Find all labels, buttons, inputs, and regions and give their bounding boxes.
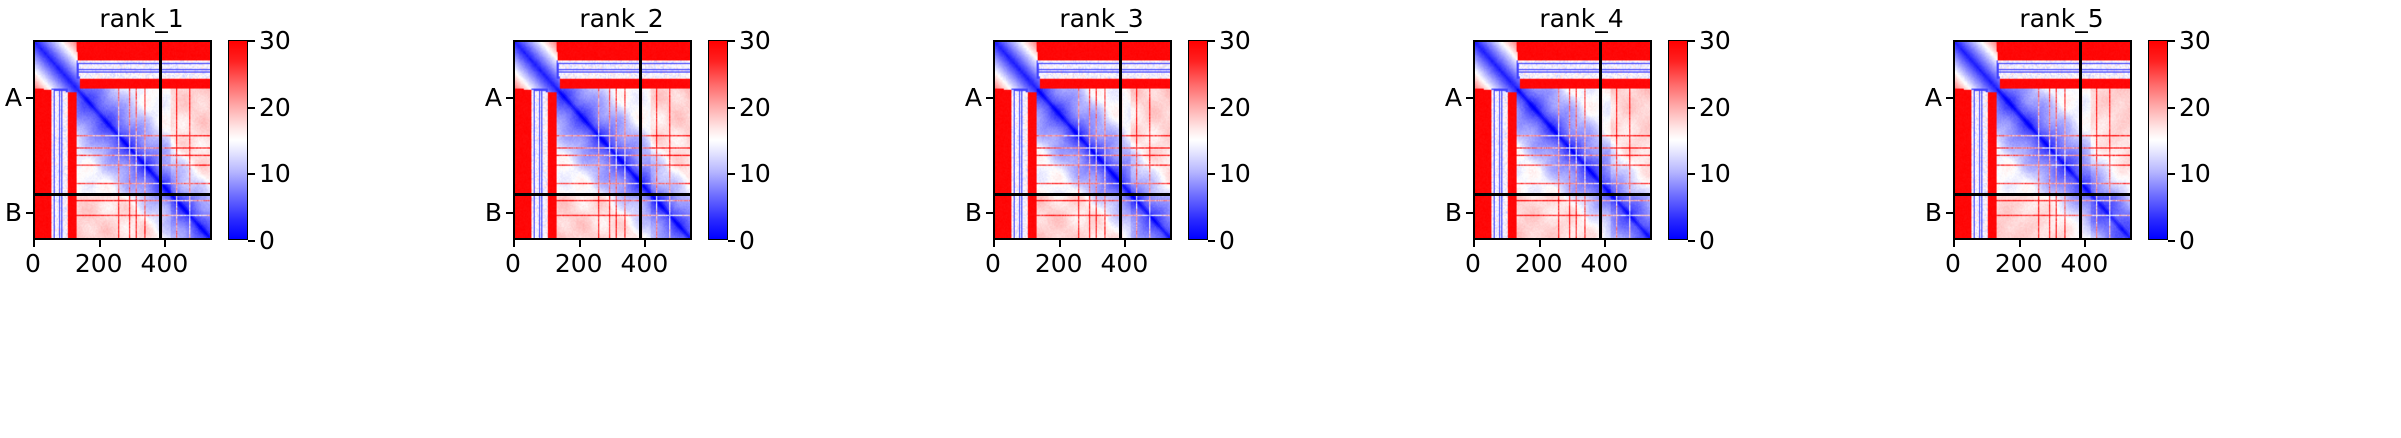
y-tick-label-chain: A (1445, 84, 1462, 112)
colorbar-tick-label: 10 (1699, 160, 1731, 188)
x-tick-label: 0 (985, 249, 1001, 279)
colorbar-tick-label: 30 (259, 27, 291, 55)
x-tick-label: 0 (25, 249, 41, 279)
colorbar-tick (1688, 40, 1695, 42)
y-tick-label-chain: B (5, 199, 22, 227)
panel-rank_1: rank_10200400AB0102030 (0, 0, 480, 438)
panel-title-wrap: rank_2 (513, 4, 730, 34)
x-tick-label: 200 (1995, 249, 2043, 279)
colorbar-tick-label: 30 (1699, 27, 1731, 55)
chain-separator-vertical (159, 42, 162, 238)
colorbar-tick-label: 30 (739, 27, 771, 55)
panel-title: rank_3 (993, 4, 1210, 34)
figure-root: rank_10200400AB0102030rank_20200400AB010… (0, 0, 2401, 438)
x-tick (99, 240, 101, 247)
colorbar-ticks: 0102030 (1688, 40, 1748, 240)
panel-title-wrap: rank_5 (1953, 4, 2170, 34)
heatmap-axes (1473, 40, 1652, 240)
chain-separator-horizontal (1475, 193, 1650, 196)
x-tick-label: 200 (1035, 249, 1083, 279)
heatmap-image (515, 42, 690, 238)
colorbar-tick (1208, 240, 1215, 242)
x-tick (1953, 240, 1955, 247)
y-tick-label-chain: B (485, 199, 502, 227)
panel-title: rank_1 (33, 4, 250, 34)
y-tick (986, 212, 993, 214)
y-tick (506, 212, 513, 214)
panel-rank_4: rank_40200400AB0102030 (1440, 0, 1920, 438)
panel-title-wrap: rank_3 (993, 4, 1210, 34)
colorbar (228, 40, 248, 240)
panel-title-wrap: rank_1 (33, 4, 250, 34)
colorbar-tick-label: 20 (2179, 94, 2211, 122)
x-tick (579, 240, 581, 247)
colorbar-tick (2168, 40, 2175, 42)
colorbar-tick-label: 20 (739, 94, 771, 122)
chain-separator-horizontal (35, 193, 210, 196)
colorbar-tick-label: 10 (739, 160, 771, 188)
panel-rank_2: rank_20200400AB0102030 (480, 0, 960, 438)
y-tick-label-chain: B (1925, 199, 1942, 227)
panel-title-wrap: rank_4 (1473, 4, 1690, 34)
y-tick (1466, 212, 1473, 214)
colorbar-tick (2168, 240, 2175, 242)
x-tick (1059, 240, 1061, 247)
x-tick (164, 240, 166, 247)
x-tick (1604, 240, 1606, 247)
colorbar-tick (2168, 107, 2175, 109)
panel-title: rank_2 (513, 4, 730, 34)
heatmap-canvas (35, 42, 210, 238)
panel-rank_5: rank_50200400AB0102030 (1920, 0, 2400, 438)
heatmap-axes (993, 40, 1172, 240)
colorbar-tick (248, 40, 255, 42)
colorbar-tick-label: 0 (259, 227, 275, 255)
colorbar-ticks: 0102030 (248, 40, 308, 240)
heatmap-image (995, 42, 1170, 238)
y-tick (1946, 97, 1953, 99)
x-axis: 0200400 (1473, 240, 1652, 290)
x-axis: 0200400 (513, 240, 692, 290)
x-tick-label: 400 (2061, 249, 2109, 279)
x-tick-label: 400 (1581, 249, 1629, 279)
x-tick (2084, 240, 2086, 247)
colorbar-tick (1688, 107, 1695, 109)
y-tick-label-chain: B (1445, 199, 1462, 227)
x-axis: 0200400 (993, 240, 1172, 290)
x-tick (993, 240, 995, 247)
colorbar-tick (248, 107, 255, 109)
colorbar-tick-label: 20 (259, 94, 291, 122)
chain-separator-horizontal (995, 193, 1170, 196)
panel-title: rank_4 (1473, 4, 1690, 34)
x-tick-label: 400 (141, 249, 189, 279)
x-tick (1539, 240, 1541, 247)
y-tick (26, 212, 33, 214)
y-tick (1466, 97, 1473, 99)
heatmap-canvas (515, 42, 690, 238)
colorbar-tick (2168, 173, 2175, 175)
colorbar-tick-label: 30 (2179, 27, 2211, 55)
y-tick (506, 97, 513, 99)
panel-title: rank_5 (1953, 4, 2170, 34)
panel-rank_3: rank_30200400AB0102030 (960, 0, 1440, 438)
x-tick-label: 0 (1945, 249, 1961, 279)
y-tick-label-chain: A (485, 84, 502, 112)
heatmap-canvas (995, 42, 1170, 238)
y-axis: AB (0, 40, 33, 240)
heatmap-canvas (1955, 42, 2130, 238)
colorbar-tick-label: 10 (1219, 160, 1251, 188)
x-tick (33, 240, 35, 247)
chain-separator-vertical (639, 42, 642, 238)
chain-separator-horizontal (515, 193, 690, 196)
colorbar-tick (1208, 107, 1215, 109)
colorbar-tick (728, 240, 735, 242)
colorbar-ticks: 0102030 (2168, 40, 2228, 240)
colorbar-tick (728, 40, 735, 42)
colorbar-tick-label: 20 (1699, 94, 1731, 122)
heatmap-image (35, 42, 210, 238)
x-tick (2019, 240, 2021, 247)
colorbar-tick (1688, 240, 1695, 242)
y-tick-label-chain: A (1925, 84, 1942, 112)
heatmap-canvas (1475, 42, 1650, 238)
chain-separator-vertical (1119, 42, 1122, 238)
colorbar-tick (728, 107, 735, 109)
colorbar-tick-label: 10 (259, 160, 291, 188)
x-tick-label: 0 (1465, 249, 1481, 279)
x-axis: 0200400 (1953, 240, 2132, 290)
colorbar-ticks: 0102030 (1208, 40, 1268, 240)
x-tick-label: 200 (1515, 249, 1563, 279)
y-tick-label-chain: B (965, 199, 982, 227)
x-tick-label: 400 (621, 249, 669, 279)
y-tick-label-chain: A (965, 84, 982, 112)
colorbar-tick (1208, 173, 1215, 175)
y-tick (1946, 212, 1953, 214)
colorbar-tick (248, 240, 255, 242)
chain-separator-vertical (2079, 42, 2082, 238)
x-tick-label: 200 (555, 249, 603, 279)
colorbar-tick-label: 10 (2179, 160, 2211, 188)
x-tick-label: 400 (1101, 249, 1149, 279)
x-tick (1124, 240, 1126, 247)
colorbar-ticks: 0102030 (728, 40, 788, 240)
x-tick (513, 240, 515, 247)
heatmap-image (1955, 42, 2130, 238)
y-tick-label-chain: A (5, 84, 22, 112)
y-axis: AB (480, 40, 513, 240)
y-axis: AB (1440, 40, 1473, 240)
x-axis: 0200400 (33, 240, 212, 290)
heatmap-image (1475, 42, 1650, 238)
chain-separator-horizontal (1955, 193, 2130, 196)
colorbar (2148, 40, 2168, 240)
colorbar (1188, 40, 1208, 240)
colorbar-tick-label: 0 (739, 227, 755, 255)
x-tick-label: 200 (75, 249, 123, 279)
x-tick (644, 240, 646, 247)
y-axis: AB (960, 40, 993, 240)
colorbar-tick (1208, 40, 1215, 42)
colorbar-tick-label: 0 (1699, 227, 1715, 255)
colorbar-tick-label: 0 (1219, 227, 1235, 255)
y-tick (26, 97, 33, 99)
colorbar-tick (1688, 173, 1695, 175)
colorbar (1668, 40, 1688, 240)
colorbar (708, 40, 728, 240)
heatmap-axes (33, 40, 212, 240)
y-tick (986, 97, 993, 99)
x-tick-label: 0 (505, 249, 521, 279)
heatmap-axes (1953, 40, 2132, 240)
y-axis: AB (1920, 40, 1953, 240)
heatmap-axes (513, 40, 692, 240)
colorbar-tick (728, 173, 735, 175)
chain-separator-vertical (1599, 42, 1602, 238)
colorbar-tick-label: 0 (2179, 227, 2195, 255)
x-tick (1473, 240, 1475, 247)
colorbar-tick-label: 20 (1219, 94, 1251, 122)
colorbar-tick-label: 30 (1219, 27, 1251, 55)
colorbar-tick (248, 173, 255, 175)
